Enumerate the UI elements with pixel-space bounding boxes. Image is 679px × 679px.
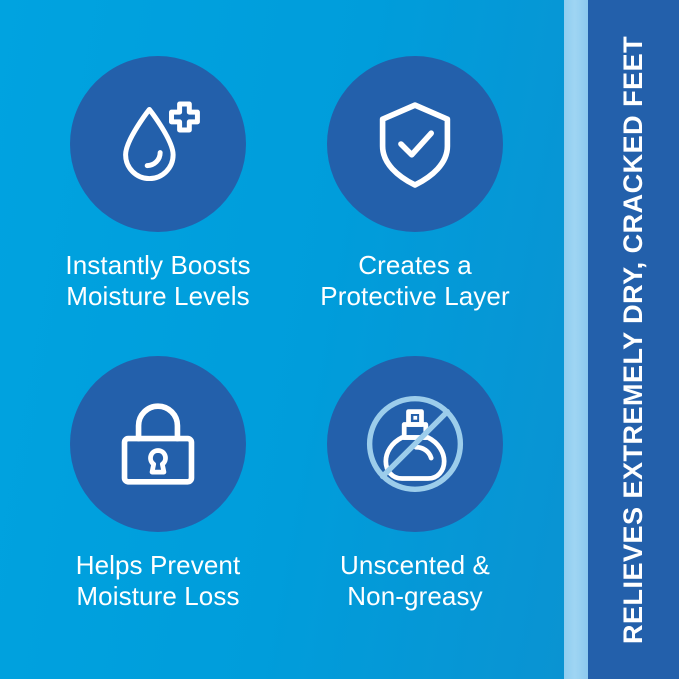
feature-icon-badge (70, 356, 246, 532)
feature-item-helps-prevent-moisture-loss: Helps Prevent Moisture Loss (17, 356, 299, 611)
padlock-icon (104, 390, 212, 498)
feature-item-unscented-and-non-greasy: Unscented & Non-greasy (274, 356, 556, 611)
feature-grid: Instantly Boosts Moisture Levels Creates… (0, 0, 564, 679)
feature-icon-badge (70, 56, 246, 232)
banner-headline: RELIEVES EXTREMELY DRY, CRACKED FEET (588, 0, 679, 679)
feature-label: Helps Prevent Moisture Loss (76, 550, 241, 611)
feature-label: Creates a Protective Layer (320, 250, 509, 311)
shield-check-icon (361, 90, 469, 198)
no-perfume-bottle-icon (361, 390, 469, 498)
product-benefits-infographic: RELIEVES EXTREMELY DRY, CRACKED FEET Ins… (0, 0, 679, 679)
feature-icon-badge (327, 356, 503, 532)
feature-icon-badge (327, 56, 503, 232)
feature-label: Unscented & Non-greasy (340, 550, 490, 611)
banner-panel: RELIEVES EXTREMELY DRY, CRACKED FEET (588, 0, 679, 679)
divider-strip (564, 0, 588, 679)
feature-label: Instantly Boosts Moisture Levels (65, 250, 250, 311)
feature-item-creates-a-protective-layer: Creates a Protective Layer (274, 56, 556, 311)
feature-item-instantly-boosts-moisture-levels: Instantly Boosts Moisture Levels (17, 56, 299, 311)
water-drop-plus-icon (104, 90, 212, 198)
